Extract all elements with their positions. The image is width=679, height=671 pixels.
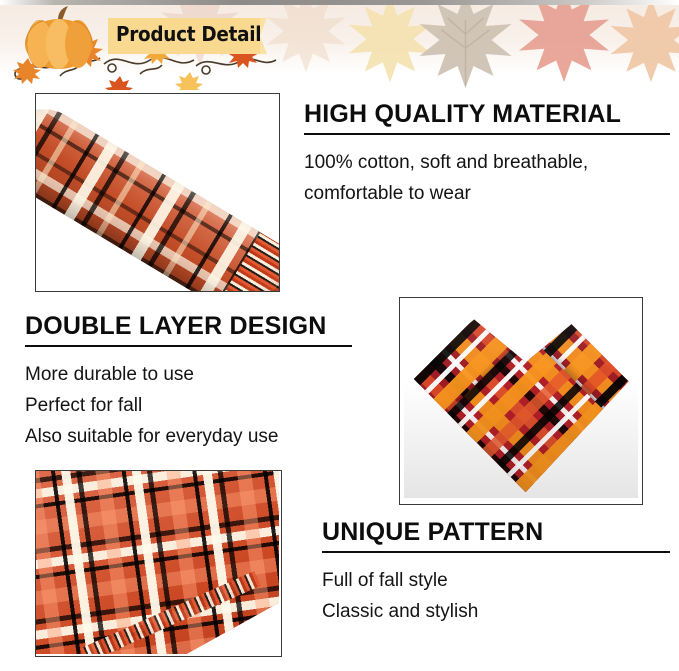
section-line: 100% cotton, soft and breathable, [304,147,670,178]
header-top-strip [0,0,679,5]
section-body: More durable to use Perfect for fall Als… [25,359,352,452]
section-line: Also suitable for everyday use [25,421,352,452]
scarf-plaid-body [35,93,280,292]
section-high-quality-material: HIGH QUALITY MATERIAL 100% cotton, soft … [304,100,670,209]
section-line: Perfect for fall [25,390,352,421]
photo-triangle-bandana [399,297,643,505]
section-line: comfortable to wear [304,178,670,209]
section-double-layer-design: DOUBLE LAYER DESIGN More durable to use … [25,312,352,452]
photo-flat-plaid-fabric [35,470,282,657]
section-line: More durable to use [25,359,352,390]
photo-rolled-scarf [35,93,280,292]
maple-leaf-icon [596,0,679,84]
header-banner: Product Detail [0,0,679,92]
section-line: Classic and stylish [322,596,670,627]
section-line: Full of fall style [322,565,670,596]
scarf-fringe [216,232,280,292]
section-body: 100% cotton, soft and breathable, comfor… [304,147,670,209]
section-unique-pattern: UNIQUE PATTERN Full of fall style Classi… [322,518,670,627]
section-heading: UNIQUE PATTERN [322,518,670,547]
bandana-shape [404,304,638,498]
bandana-graphic [404,304,638,498]
section-underline [304,133,670,135]
flat-plaid-shape [36,471,279,654]
section-underline [25,345,352,347]
banner-title: Product Detail [116,22,254,46]
pumpkin-icon [18,6,100,75]
section-heading: DOUBLE LAYER DESIGN [25,312,352,341]
section-heading: HIGH QUALITY MATERIAL [304,100,670,129]
section-body: Full of fall style Classic and stylish [322,565,670,627]
section-underline [322,551,670,553]
